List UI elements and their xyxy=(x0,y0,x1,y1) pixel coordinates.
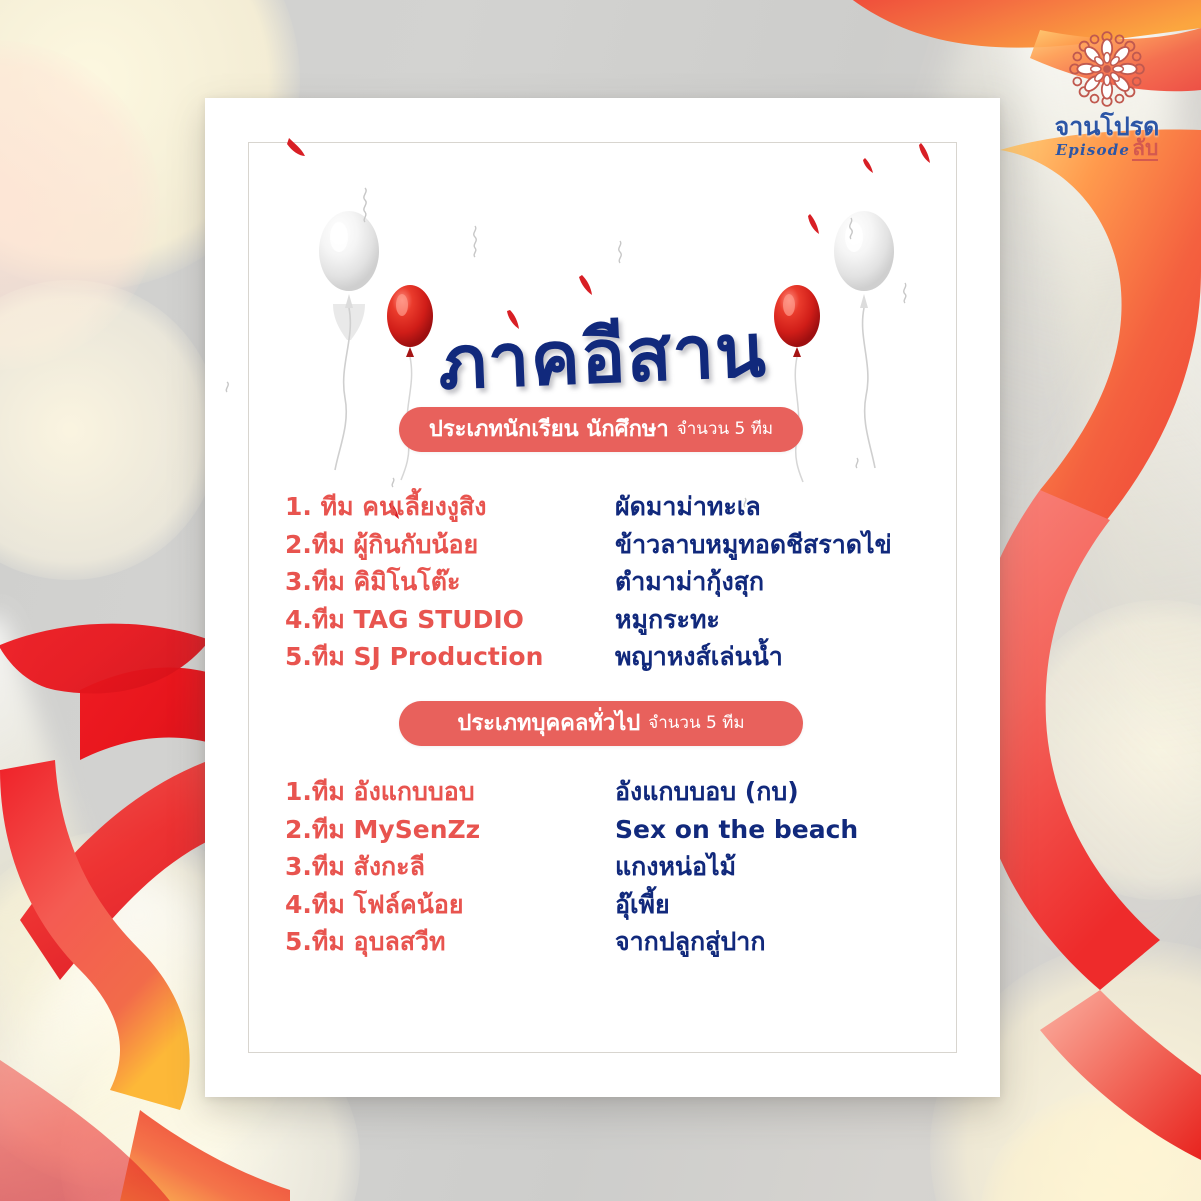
team-name: 2.ทีม ผู้กินกับน้อย xyxy=(285,532,478,557)
team-name: 5.ทีม SJ Production xyxy=(285,644,543,669)
section-badge-general: ประเภทบุคคลทั่วไป จำนวน 5 ทีม xyxy=(399,701,803,746)
list-item: 2.ทีม MySenZz xyxy=(285,811,615,849)
team-name: 3.ทีม คิมิโนโต๊ะ xyxy=(285,569,460,594)
team-name: 3.ทีม สังกะลี xyxy=(285,854,425,879)
team-name: 1. ทีม คนเลี้ยงงูสิง xyxy=(285,494,486,519)
page-title: ภาคอีสาน xyxy=(437,313,768,400)
badge-main-label: ประเภทบุคคลทั่วไป xyxy=(457,713,640,735)
badge-count-label: จำนวน 5 ทีม xyxy=(648,715,744,732)
dish-name-column: ผัดมาม่าทะเล ข้าวลาบหมูทอดชีสราดไข่ ตำมา… xyxy=(615,488,975,676)
list-item: จากปลูกสู่ปาก xyxy=(615,923,975,961)
team-name: 1.ทีม อังแกบบอบ xyxy=(285,779,475,804)
logo-episode-label: Episode xyxy=(1056,141,1131,159)
team-name: 5.ทีม อุบลสวีท xyxy=(285,929,446,954)
list-item: 4.ทีม TAG STUDIO xyxy=(285,601,615,639)
brand-logo: จานโปรด Episode ลับ xyxy=(1031,26,1183,161)
list-item: 2.ทีม ผู้กินกับน้อย xyxy=(285,526,615,564)
list-item: 1.ทีม อังแกบบอบ xyxy=(285,773,615,811)
ribbon-right-lower xyxy=(1040,990,1201,1160)
logo-secret-label: ลับ xyxy=(1132,137,1158,161)
dish-name: จากปลูกสู่ปาก xyxy=(615,929,765,954)
dish-name: ผัดมาม่าทะเล xyxy=(615,494,761,519)
dish-name: แกงหน่อไม้ xyxy=(615,854,736,879)
dish-name: อังแกบบอบ (กบ) xyxy=(615,779,799,804)
team-name: 4.ทีม โฟล์คน้อย xyxy=(285,892,463,917)
team-name: 2.ทีม MySenZz xyxy=(285,817,480,842)
list-item: อังแกบบอบ (กบ) xyxy=(615,773,975,811)
list-item: 5.ทีม SJ Production xyxy=(285,638,615,676)
dish-name: Sex on the beach xyxy=(615,817,858,842)
teams-list-students: 1. ทีม คนเลี้ยงงูสิง 2.ทีม ผู้กินกับน้อย… xyxy=(285,488,975,676)
team-name-column: 1. ทีม คนเลี้ยงงูสิง 2.ทีม ผู้กินกับน้อย… xyxy=(285,488,615,676)
title-container: ภาคอีสาน xyxy=(205,320,1000,394)
list-item: ผัดมาม่าทะเล xyxy=(615,488,975,526)
list-item: 5.ทีม อุบลสวีท xyxy=(285,923,615,961)
dish-name: ตำมาม่ากุ้งสุก xyxy=(615,569,764,594)
ribbon-right-upper xyxy=(1000,130,1201,540)
logo-subtitle: Episode ลับ xyxy=(1031,137,1183,161)
list-item: Sex on the beach xyxy=(615,811,975,849)
dish-name: อุ๊เพี้ย xyxy=(615,892,670,917)
list-item: 3.ทีม คิมิโนโต๊ะ xyxy=(285,563,615,601)
dish-name-column: อังแกบบอบ (กบ) Sex on the beach แกงหน่อไ… xyxy=(615,773,975,961)
dish-name: พญาหงส์เล่นน้ำ xyxy=(615,644,783,669)
badge-count-label: จำนวน 5 ทีม xyxy=(677,421,773,438)
list-item: 1. ทีม คนเลี้ยงงูสิง xyxy=(285,488,615,526)
list-item: ตำมาม่ากุ้งสุก xyxy=(615,563,975,601)
list-item: 4.ทีม โฟล์คน้อย xyxy=(285,886,615,924)
teams-list-general: 1.ทีม อังแกบบอบ 2.ทีม MySenZz 3.ทีม สังก… xyxy=(285,773,975,961)
team-name-column: 1.ทีม อังแกบบอบ 2.ทีม MySenZz 3.ทีม สังก… xyxy=(285,773,615,961)
logo-brand-name: จานโปรด xyxy=(1031,114,1183,139)
list-item: หมูกระทะ xyxy=(615,601,975,639)
list-item: 3.ทีม สังกะลี xyxy=(285,848,615,886)
dish-name: ข้าวลาบหมูทอดชีสราดไข่ xyxy=(615,532,892,557)
mandala-flower-icon xyxy=(1064,26,1150,112)
badge-main-label: ประเภทนักเรียน นักศึกษา xyxy=(429,419,669,441)
list-item: อุ๊เพี้ย xyxy=(615,886,975,924)
list-item: ข้าวลาบหมูทอดชีสราดไข่ xyxy=(615,526,975,564)
team-name: 4.ทีม TAG STUDIO xyxy=(285,607,524,632)
section-badge-students: ประเภทนักเรียน นักศึกษา จำนวน 5 ทีม xyxy=(399,407,803,452)
list-item: แกงหน่อไม้ xyxy=(615,848,975,886)
dish-name: หมูกระทะ xyxy=(615,607,720,632)
list-item: พญาหงส์เล่นน้ำ xyxy=(615,638,975,676)
